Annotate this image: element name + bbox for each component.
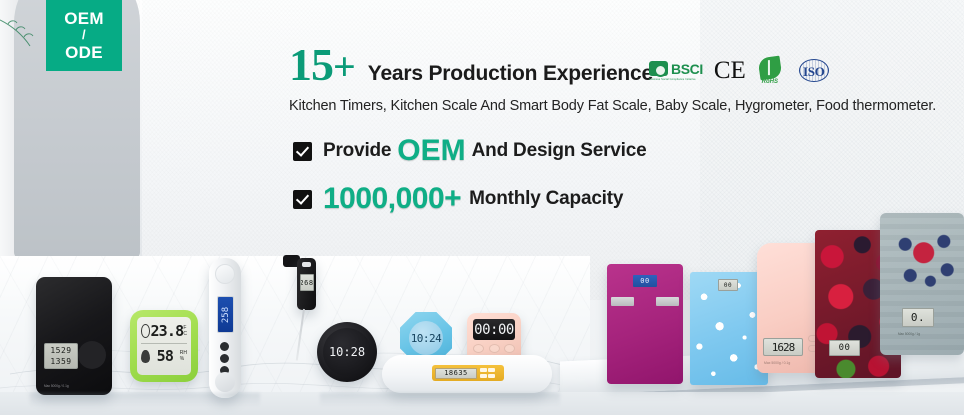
- headline-text: Years Production Experience: [368, 62, 653, 86]
- gray-scale-caption: Max 5000g / 1g: [898, 332, 920, 336]
- bsci-mark-icon: [649, 61, 668, 76]
- round-timer-display: 10:28: [329, 345, 365, 359]
- black-probe-thermometer: 268: [297, 258, 316, 310]
- bullet-2-highlight: 1000,000+: [323, 182, 461, 216]
- badge-line-2: ODE: [65, 43, 103, 62]
- probe-thermometer-button: [302, 262, 311, 267]
- checkbox-checked-icon: [293, 190, 312, 209]
- green-hygrometer: 23.8 F C 58 RH %: [130, 310, 198, 382]
- white-scale-key-3: [480, 374, 487, 378]
- black-kitchen-scale: 1529 1359 Max 5000g / 0.1g: [36, 277, 112, 395]
- leaf-sprig-icon: [0, 18, 46, 52]
- ce-logo: CE: [714, 59, 746, 83]
- hygrometer-humidity-row: 58 RH %: [141, 347, 187, 365]
- hygrometer-temperature: 23.8: [150, 322, 183, 340]
- bullet-oem-service: Provide OEM And Design Service: [293, 134, 647, 168]
- bsci-logo: BSCI Business Social Compliance Initiati…: [649, 61, 703, 81]
- probe-thermometer-display: 268: [300, 274, 314, 291]
- thermometer-button-2: [220, 354, 229, 363]
- rohs-label: RoHS: [757, 79, 783, 85]
- bullet-1-post: And Design Service: [472, 140, 647, 162]
- certification-logos: BSCI Business Social Compliance Initiati…: [649, 57, 834, 84]
- gray-wood-print-kitchen-scale: 0. Max 5000g / 1g: [880, 213, 964, 355]
- checkbox-checked-icon: [293, 142, 312, 161]
- hygrometer-divider: [141, 343, 187, 344]
- promo-banner: OEM / ODE 15+ Years Production Experienc…: [0, 0, 964, 415]
- badge-line-1: OEM: [64, 9, 104, 28]
- berry-scale-display: 00: [829, 340, 860, 356]
- headline-block: 15+ Years Production Experience BSCI Bus…: [289, 44, 954, 114]
- folding-thermometer-value: 258: [221, 306, 231, 322]
- reflection-left-group: [30, 393, 260, 407]
- purple-scale-electrode-left: [611, 297, 634, 306]
- headline-row: 15+ Years Production Experience: [289, 44, 954, 88]
- round-timer-face: 10:28: [323, 328, 371, 376]
- white-scale-panel: 18635: [432, 365, 504, 381]
- blue-dot-scale-display: 00: [718, 279, 738, 291]
- pink-timer-button-sec: [489, 344, 500, 353]
- years-number: 15+: [289, 44, 355, 88]
- pink-timer-screen: 00:00: [473, 319, 515, 340]
- bullet-2-post: Monthly Capacity: [469, 188, 623, 210]
- ce-label: CE: [714, 59, 746, 83]
- white-scale-display: 18635: [435, 368, 477, 379]
- white-scale-key-1: [480, 368, 487, 372]
- hygrometer-humidity: 58: [157, 347, 173, 365]
- smiley-face-icon: [141, 324, 150, 338]
- hygrometer-unit-c: C: [183, 331, 187, 337]
- rohs-logo: RoHS: [757, 57, 783, 84]
- hygrometer-temperature-row: 23.8 F C: [141, 322, 187, 340]
- background-wall-seam: [140, 0, 142, 262]
- water-drop-icon: [141, 350, 150, 363]
- white-folding-food-thermometer: 258: [209, 258, 241, 398]
- feature-bullets: Provide OEM And Design Service 1000,000+…: [293, 134, 647, 216]
- purple-scale-display: 00: [633, 275, 657, 287]
- bsci-label: BSCI: [671, 61, 703, 77]
- iso-logo: ISO: [794, 58, 834, 84]
- badge-slash: /: [82, 28, 86, 42]
- purple-body-fat-scale: 00: [607, 264, 683, 384]
- bullet-1-pre: Provide: [323, 140, 391, 162]
- white-scale-key-2: [488, 368, 495, 372]
- product-category-line: Kitchen Timers, Kitchen Scale And Smart …: [289, 98, 954, 114]
- purple-scale-electrode-right: [656, 297, 679, 306]
- black-round-magnetic-timer: 10:28: [317, 322, 377, 382]
- hygrometer-screen: 23.8 F C 58 RH %: [137, 317, 191, 375]
- thermometer-hinge-knob: [215, 264, 235, 284]
- thermometer-button-1: [220, 342, 229, 351]
- white-scale-key-4: [488, 374, 495, 378]
- bullet-monthly-capacity: 1000,000+ Monthly Capacity: [293, 182, 647, 216]
- black-scale-caption: Max 5000g / 0.1g: [44, 384, 69, 388]
- hygrometer-unit-percent: %: [180, 356, 187, 362]
- gray-scale-display: 0.: [902, 308, 934, 327]
- black-scale-display: 1529 1359: [44, 343, 78, 369]
- bsci-sublabel: Business Social Compliance Initiative: [649, 78, 696, 81]
- pink-timer-buttons: [473, 344, 515, 353]
- pink-scale-display: 1628: [763, 338, 803, 356]
- reflection-center-group: [320, 393, 560, 407]
- pink-timer-button-min: [473, 344, 484, 353]
- black-scale-display-line-1: 1529: [50, 345, 71, 356]
- pink-timer-button-start: [504, 344, 515, 353]
- blue-timer-dial: 10:24: [409, 321, 443, 355]
- pink-scale-caption: Max 5000g / 0.1g: [764, 361, 790, 365]
- pink-timer-display: 00:00: [474, 322, 514, 338]
- white-baby-scale: 18635: [382, 355, 552, 393]
- leaf-icon: [757, 56, 782, 81]
- folding-thermometer-display: 258: [217, 296, 234, 333]
- bullet-1-highlight: OEM: [397, 134, 465, 168]
- iso-label: ISO: [794, 64, 834, 80]
- black-scale-keypad: [78, 341, 106, 369]
- oem-ode-badge: OEM / ODE: [46, 0, 122, 71]
- white-scale-keypad: [480, 368, 496, 378]
- blue-timer-display: 10:24: [411, 332, 442, 345]
- black-scale-display-line-2: 1359: [50, 356, 71, 367]
- thermometer-base-knob: [215, 372, 235, 392]
